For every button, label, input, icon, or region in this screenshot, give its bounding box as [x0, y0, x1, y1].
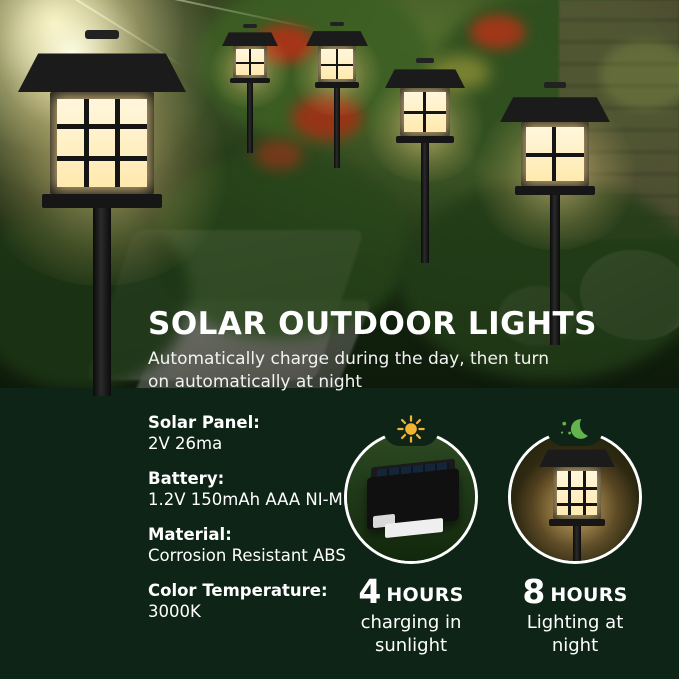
red-flower [292, 95, 362, 140]
charging-hours-number: 4 [358, 572, 381, 611]
charging-caption-1: charging in [336, 612, 486, 634]
lighting-caption-2: night [500, 635, 650, 657]
feature-charging: 4HOURS charging in sunlight [336, 430, 486, 657]
spec-value: 2V 26ma [148, 433, 358, 454]
subtitle-line-1: Automatically charge during the day, the… [148, 348, 668, 371]
lighting-hours-number: 8 [522, 572, 545, 611]
spec-item: Battery: 1.2V 150mAh AAA NI-MH [148, 468, 358, 510]
spec-title: Solar Panel: [148, 412, 358, 433]
solar-lantern-hero [18, 30, 186, 194]
solar-lantern-small [222, 24, 278, 78]
lighting-duration: 8HOURS [500, 572, 650, 611]
spec-title: Color Temperature: [148, 580, 358, 601]
spec-value: 3000K [148, 601, 358, 622]
page-title: SOLAR OUTDOOR LIGHTS [148, 306, 668, 342]
spec-value: Corrosion Resistant ABS [148, 545, 358, 566]
charging-hours-unit: HOURS [386, 584, 463, 606]
solar-lantern-mid [385, 58, 465, 136]
feature-lighting: 8HOURS Lighting at night [500, 430, 650, 657]
headline-block: SOLAR OUTDOOR LIGHTS Automatically charg… [148, 306, 668, 394]
spec-item: Solar Panel: 2V 26ma [148, 412, 358, 454]
sun-icon [389, 414, 433, 444]
lighting-caption-1: Lighting at [500, 612, 650, 634]
spec-value: 1.2V 150mAh AAA NI-MH [148, 489, 358, 510]
lighting-hours-unit: HOURS [550, 584, 627, 606]
spec-list: Solar Panel: 2V 26ma Battery: 1.2V 150mA… [148, 412, 358, 636]
spec-item: Material: Corrosion Resistant ABS [148, 524, 358, 566]
moon-stars-icon [553, 414, 597, 444]
lighting-photo-circle [508, 430, 642, 564]
red-flower [470, 15, 525, 49]
spec-item: Color Temperature: 3000K [148, 580, 358, 622]
subtitle-line-2: on automatically at night [148, 371, 668, 394]
solar-lantern-right [500, 82, 610, 186]
charging-duration: 4HOURS [336, 572, 486, 611]
spec-title: Material: [148, 524, 358, 545]
solar-lantern-small [306, 22, 368, 82]
spec-title: Battery: [148, 468, 358, 489]
red-flower [255, 140, 303, 170]
charging-caption-2: sunlight [336, 635, 486, 657]
charging-photo-circle [344, 430, 478, 564]
product-infographic: SOLAR OUTDOOR LIGHTS Automatically charg… [0, 0, 679, 679]
